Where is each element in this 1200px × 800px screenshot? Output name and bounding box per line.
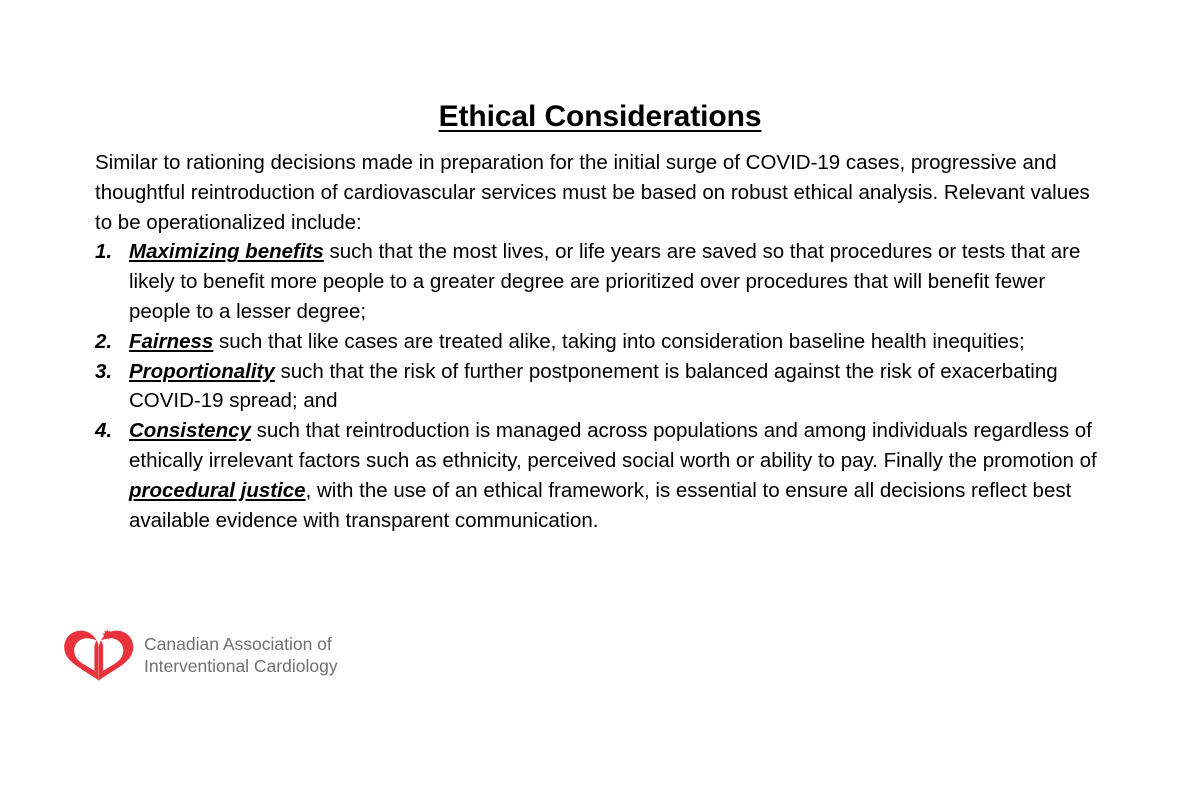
logo-line-2: Interventional Cardiology — [144, 655, 338, 677]
list-item: 3.Proportionality such that the risk of … — [95, 357, 1107, 417]
list-item-term: Maximizing benefits — [129, 240, 324, 263]
list-item-marker: 1. — [95, 237, 123, 267]
slide-body: Similar to rationing decisions made in p… — [95, 148, 1107, 535]
intro-paragraph: Similar to rationing decisions made in p… — [95, 148, 1107, 237]
list-item: 4.Consistency such that reintroduction i… — [95, 416, 1107, 535]
list-item-term: Fairness — [129, 330, 213, 353]
list-item: 2.Fairness such that like cases are trea… — [95, 327, 1107, 357]
list-item-text: such that reintroduction is managed acro… — [129, 419, 1097, 472]
page-title: Ethical Considerations — [0, 100, 1200, 133]
slide-canvas: Ethical Considerations Similar to ration… — [0, 0, 1200, 800]
list-item-term: Proportionality — [129, 360, 275, 383]
list-item-text: such that like cases are treated alike, … — [213, 330, 1024, 353]
logo-wordmark: Canadian Association of Interventional C… — [144, 633, 338, 677]
page-title-text: Ethical Considerations — [439, 100, 762, 133]
list-item: 1.Maximizing benefits such that the most… — [95, 237, 1107, 326]
logo-line-1: Canadian Association of — [144, 633, 338, 655]
organization-logo: Canadian Association of Interventional C… — [62, 628, 338, 682]
list-item-marker: 2. — [95, 327, 123, 357]
list-item-marker: 4. — [95, 416, 123, 446]
heart-maple-leaf-icon — [62, 628, 136, 682]
ethical-values-list: 1.Maximizing benefits such that the most… — [95, 237, 1107, 535]
list-item-marker: 3. — [95, 357, 123, 387]
list-item-term-secondary: procedural justice — [129, 479, 306, 502]
list-item-term: Consistency — [129, 419, 251, 442]
